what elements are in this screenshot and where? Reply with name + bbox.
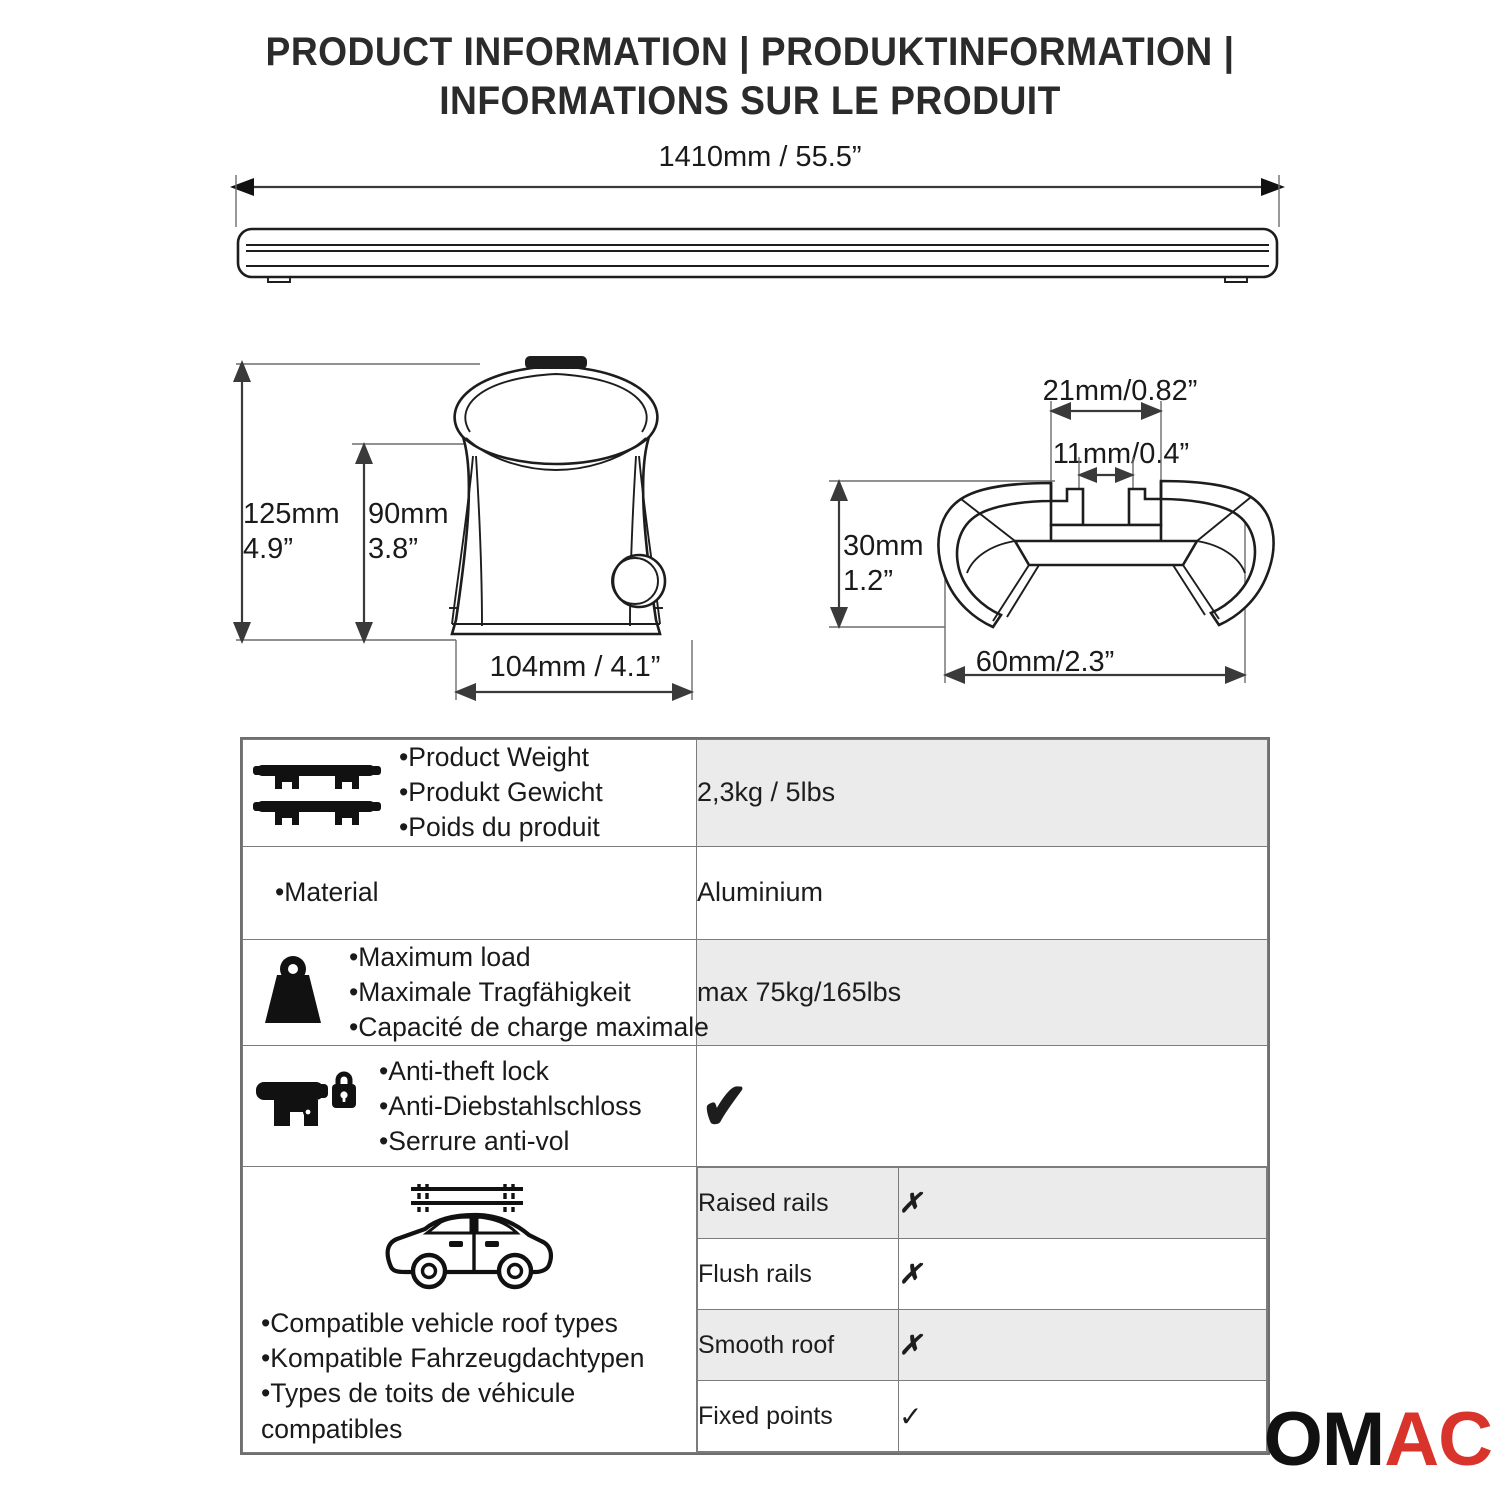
table-row: •Maximum load •Maximale Tragfähigkeit •C… xyxy=(243,939,1268,1046)
title-line-2: INFORMATIONS SUR LE PRODUIT xyxy=(53,77,1448,126)
label-line: •Produkt Gewicht xyxy=(399,775,603,810)
row-value-maximum-load: max 75kg/165lbs xyxy=(697,939,1268,1046)
label-line: •Poids du produit xyxy=(399,810,603,845)
label-line: compatibles xyxy=(261,1412,696,1447)
row-label-texts: •Material xyxy=(275,875,379,910)
label-line: •Product Weight xyxy=(399,740,603,775)
row-label-texts: •Product Weight •Produkt Gewicht •Poids … xyxy=(399,740,603,846)
row-label-maximum-load: •Maximum load •Maximale Tragfähigkeit •C… xyxy=(243,939,697,1046)
check-mark-icon: ✔ xyxy=(701,1073,748,1139)
table-row: •Material Aluminium xyxy=(243,846,1268,939)
roof-option-row: Smooth roof ✗ xyxy=(698,1310,1267,1381)
roof-options-table: Raised rails ✗ Flush rails ✗ xyxy=(697,1167,1267,1452)
label-line: •Serrure anti-vol xyxy=(379,1124,642,1159)
row-value-product-weight: 2,3kg / 5lbs xyxy=(697,740,1268,847)
roof-option-row: Raised rails ✗ xyxy=(698,1168,1267,1239)
profile-cross-section-drawing xyxy=(815,365,1285,695)
car-with-rack-icon xyxy=(243,1173,696,1298)
check-mark-icon: ✓ xyxy=(899,1401,922,1432)
roof-option-name: Smooth roof xyxy=(698,1310,899,1381)
label-line: •Maximale Tragfähigkeit xyxy=(349,975,709,1010)
roof-option-mark: ✗ xyxy=(899,1168,1267,1239)
label-line: •Anti-theft lock xyxy=(379,1054,642,1089)
product-info-sheet: PRODUCT INFORMATION | PRODUKTINFORMATION… xyxy=(0,0,1500,1500)
roof-label-texts: •Compatible vehicle roof types •Kompatib… xyxy=(243,1306,696,1447)
table-row: •Anti-theft lock •Anti-Diebstahlschloss … xyxy=(243,1046,1268,1167)
label-line: •Material xyxy=(275,875,379,910)
label-line: •Types de toits de véhicule xyxy=(261,1376,696,1411)
page-title: PRODUCT INFORMATION | PRODUKTINFORMATION… xyxy=(0,28,1500,126)
omac-logo: OMAC xyxy=(1264,1402,1492,1478)
label-line: •Compatible vehicle roof types xyxy=(261,1306,696,1341)
roof-option-name: Flush rails xyxy=(698,1239,899,1310)
crossbar-top-view-drawing xyxy=(230,165,1285,305)
label-line: •Anti-Diebstahlschloss xyxy=(379,1089,642,1124)
roof-option-mark: ✗ xyxy=(899,1310,1267,1381)
crossbars-icon xyxy=(243,757,393,829)
cross-mark-icon: ✗ xyxy=(899,1188,922,1218)
table-row: •Product Weight •Produkt Gewicht •Poids … xyxy=(243,740,1268,847)
roof-option-mark: ✗ xyxy=(899,1239,1267,1310)
row-label-texts: •Anti-theft lock •Anti-Diebstahlschloss … xyxy=(379,1054,642,1160)
title-line-1: PRODUCT INFORMATION | PRODUKTINFORMATION… xyxy=(53,28,1448,77)
row-label-material: •Material xyxy=(243,846,697,939)
label-line: •Maximum load xyxy=(349,940,709,975)
row-value-material: Aluminium xyxy=(697,846,1268,939)
row-label-texts: •Maximum load •Maximale Tragfähigkeit •C… xyxy=(349,940,709,1046)
label-line: •Kompatible Fahrzeugdachtypen xyxy=(261,1341,696,1376)
logo-text-ac: AC xyxy=(1384,1397,1492,1482)
logo-text-om: OM xyxy=(1264,1397,1384,1482)
roof-option-row: Flush rails ✗ xyxy=(698,1239,1267,1310)
table-row-roof-types: •Compatible vehicle roof types •Kompatib… xyxy=(243,1167,1268,1453)
foot-front-view-drawing xyxy=(230,352,710,702)
label-line: •Capacité de charge maximale xyxy=(349,1010,709,1045)
roof-option-name: Fixed points xyxy=(698,1381,899,1452)
row-label-roof-types: •Compatible vehicle roof types •Kompatib… xyxy=(243,1167,697,1453)
weight-icon xyxy=(243,955,343,1031)
spec-table: •Product Weight •Produkt Gewicht •Poids … xyxy=(240,737,1270,1455)
row-label-anti-theft-lock: •Anti-theft lock •Anti-Diebstahlschloss … xyxy=(243,1046,697,1167)
cross-mark-icon: ✗ xyxy=(899,1259,922,1289)
cross-mark-icon: ✗ xyxy=(899,1330,922,1360)
lock-icon xyxy=(243,1068,373,1144)
row-value-anti-theft-lock: ✔ xyxy=(697,1046,1268,1167)
roof-option-mark: ✓ xyxy=(899,1381,1267,1452)
roof-option-row: Fixed points ✓ xyxy=(698,1381,1267,1452)
roof-option-name: Raised rails xyxy=(698,1168,899,1239)
row-label-product-weight: •Product Weight •Produkt Gewicht •Poids … xyxy=(243,740,697,847)
roof-options-cell: Raised rails ✗ Flush rails ✗ xyxy=(697,1167,1268,1453)
